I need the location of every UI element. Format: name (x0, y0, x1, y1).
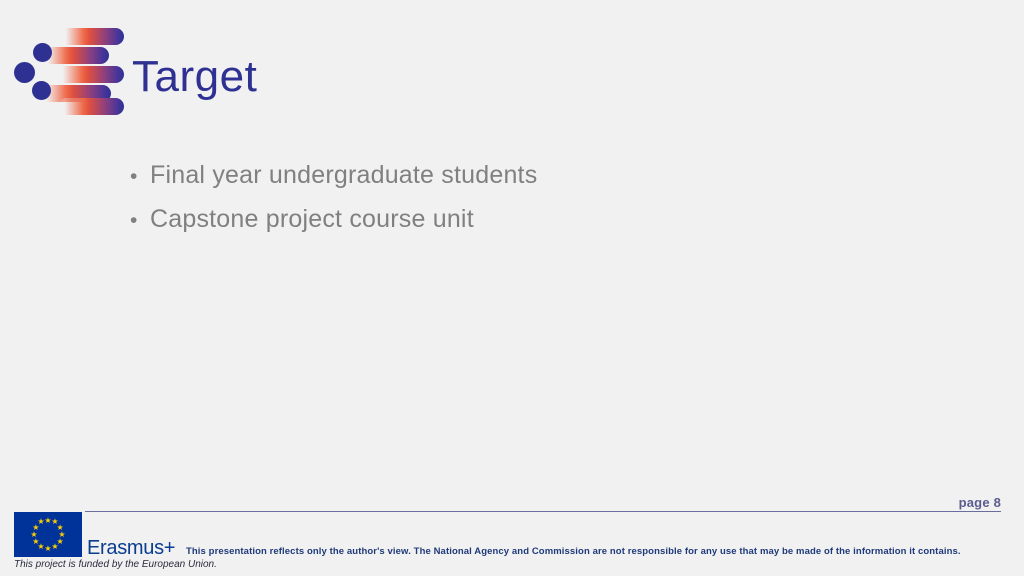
bullet-point-icon: • (130, 199, 150, 242)
gradient-bars-logo (12, 26, 124, 114)
eu-star-icon: ★ (30, 531, 38, 539)
eu-star-icon: ★ (44, 545, 52, 553)
logo-dot-2 (14, 62, 35, 83)
list-item: • Capstone project course unit (130, 198, 890, 242)
eu-star-icon: ★ (51, 543, 59, 551)
bullet-point-icon: • (130, 155, 150, 198)
eu-star-icon: ★ (32, 538, 40, 546)
footer-divider (85, 511, 1001, 512)
page-title: Target (132, 55, 257, 99)
eu-star-icon: ★ (37, 518, 45, 526)
european-union-flag-icon: ★★★★★★★★★★★★ (14, 512, 82, 557)
list-item-label: Capstone project course unit (150, 198, 474, 241)
logo-bar-3 (56, 66, 124, 83)
page-number: page 8 (959, 495, 1001, 510)
disclaimer-text: This presentation reflects only the auth… (186, 546, 961, 557)
logo-dot-3 (32, 81, 51, 100)
logo-bar-5 (58, 98, 124, 115)
list-item-label: Final year undergraduate students (150, 154, 537, 197)
erasmus-eu-logo: ★★★★★★★★★★★★ Erasmus+ This project is fu… (14, 512, 174, 572)
logo-bar-1 (59, 28, 124, 45)
bullet-list: • Final year undergraduate students • Ca… (130, 154, 890, 242)
presentation-slide: Target • Final year undergraduate studen… (0, 0, 1024, 576)
eu-funding-tagline: This project is funded by the European U… (14, 559, 217, 570)
slide-header: Target (0, 0, 1024, 140)
list-item: • Final year undergraduate students (130, 154, 890, 198)
erasmus-brand-label: Erasmus+ (87, 537, 175, 560)
logo-dot-1 (33, 43, 52, 62)
